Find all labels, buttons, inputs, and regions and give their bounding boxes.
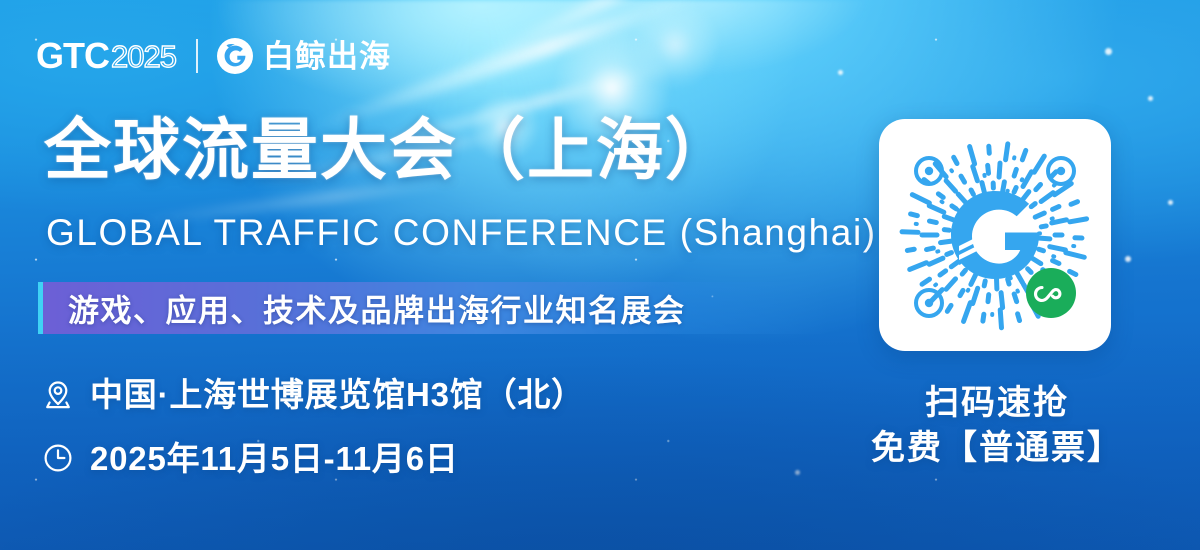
wechat-miniprogram-qr-panel[interactable]	[879, 119, 1111, 351]
gtc-year: 2025	[111, 41, 176, 72]
logo-divider	[196, 39, 198, 73]
date-row: 2025年11月5日-11月6日	[40, 440, 459, 476]
conference-banner: GTC 2025 白鲸出海 全球流量大会（上海） GLOBAL TRAFFIC …	[0, 0, 1200, 550]
tagline-strip: 游戏、应用、技术及品牌出海行业知名展会	[38, 282, 828, 334]
qr-code-image[interactable]	[893, 133, 1097, 337]
qr-center-logo	[951, 191, 1039, 279]
logo-row: GTC 2025 白鲸出海	[36, 34, 391, 78]
whale-g-logo-icon	[216, 37, 254, 75]
cta-line-2: 免费【普通票】	[852, 426, 1142, 471]
gtc-wordmark: GTC	[36, 38, 109, 74]
tagline-accent-bar	[38, 282, 43, 334]
brand-name: 白鲸出海	[263, 41, 391, 72]
page-title: 全球流量大会（上海）	[44, 116, 734, 186]
venue-row: 中国·上海世博展览馆H3馆（北）	[40, 376, 585, 412]
wechat-miniprogram-badge-icon	[1026, 268, 1076, 318]
tagline-text: 游戏、应用、技术及品牌出海行业知名展会	[68, 286, 686, 331]
cta-line-1: 扫码速抢	[852, 381, 1142, 426]
page-subtitle-en: GLOBAL TRAFFIC CONFERENCE (Shanghai)	[46, 214, 877, 251]
venue-text: 中国·上海世博展览馆H3馆（北）	[90, 378, 585, 411]
date-text: 2025年11月5日-11月6日	[90, 442, 459, 475]
clock-icon	[40, 440, 76, 476]
location-pin-icon	[40, 376, 76, 412]
qr-cta: 扫码速抢 免费【普通票】	[852, 381, 1142, 471]
